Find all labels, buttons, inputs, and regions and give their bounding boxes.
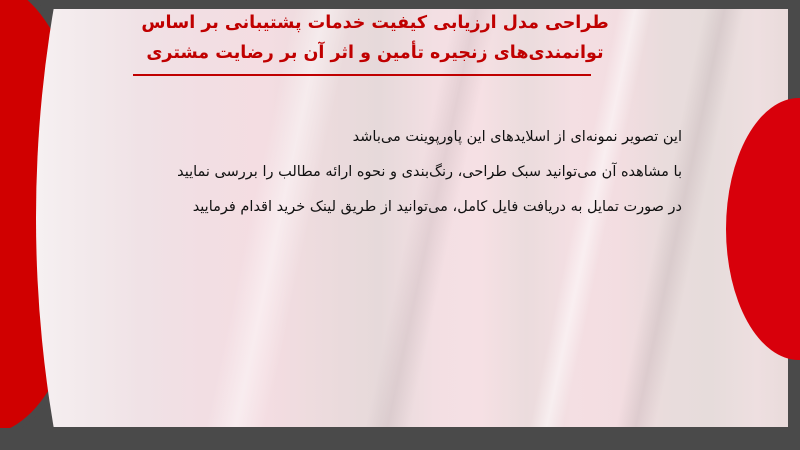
presentation-slide: طراحی مدل ارزیابی کیفیت خدمات پشتیبانی ب… [0, 0, 800, 450]
title-underline-rule [133, 74, 591, 76]
body-line-2: با مشاهده آن می‌توانید سبک طراحی، رنگ‌بن… [122, 155, 682, 190]
slide-title: طراحی مدل ارزیابی کیفیت خدمات پشتیبانی ب… [140, 8, 610, 68]
title-line-2: توانمندی‌های زنجیره تأمین و اثر آن بر رض… [140, 38, 610, 68]
body-line-1: این تصویر نمونه‌ای از اسلایدهای این پاور… [122, 120, 682, 155]
slide-bottom-band [0, 428, 800, 450]
title-line-1: طراحی مدل ارزیابی کیفیت خدمات پشتیبانی ب… [140, 8, 610, 38]
body-line-3: در صورت تمایل به دریافت فایل کامل، می‌تو… [122, 190, 682, 225]
slide-body-text: این تصویر نمونه‌ای از اسلایدهای این پاور… [122, 120, 682, 225]
